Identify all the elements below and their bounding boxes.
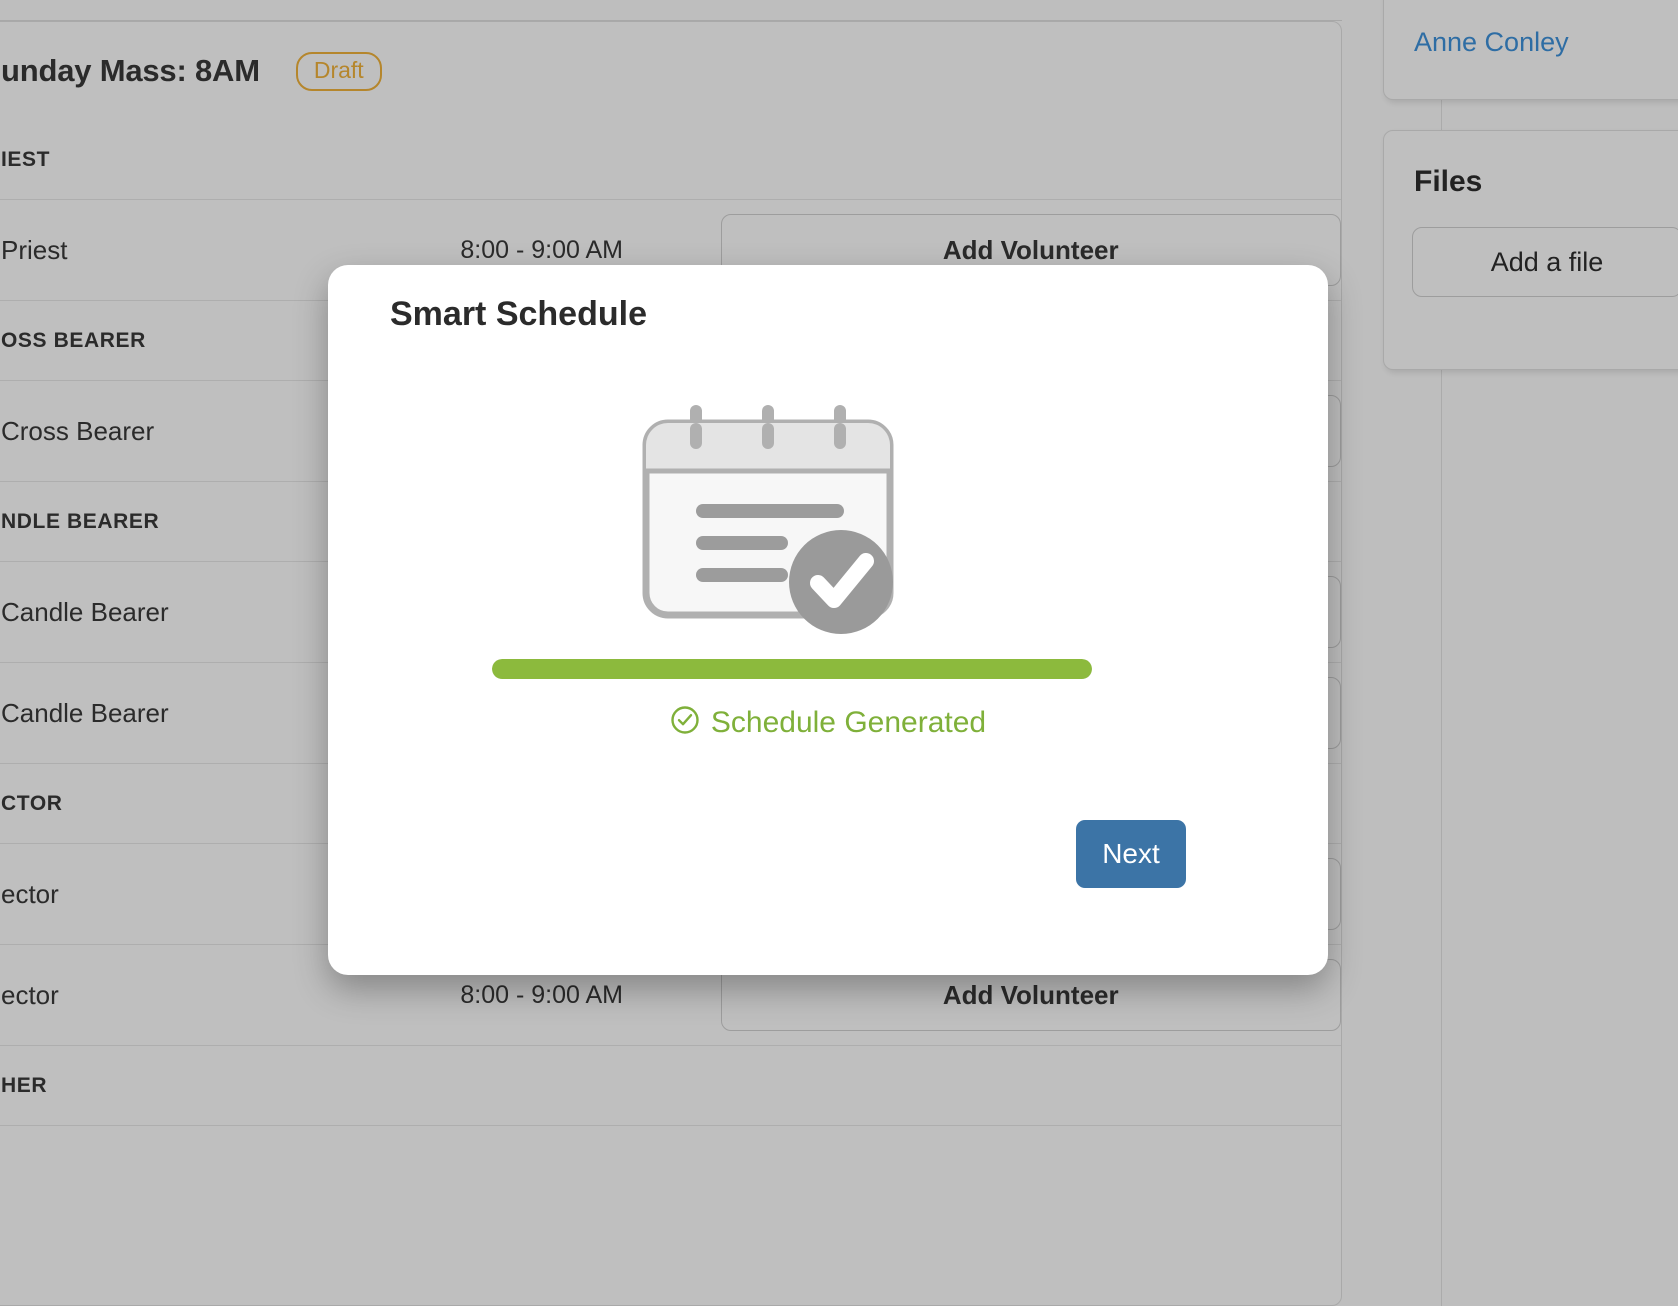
modal-title: Smart Schedule — [390, 295, 647, 334]
next-button[interactable]: Next — [1076, 820, 1186, 888]
person-name-link[interactable]: Anne Conley — [1414, 27, 1569, 58]
app-screen: unday Mass: 8AM Draft IEST Priest 8:00 -… — [0, 0, 1678, 1306]
add-a-file-button[interactable]: Add a file — [1412, 227, 1678, 297]
row-role-label: Priest — [1, 235, 409, 266]
page-title: unday Mass: 8AM — [1, 53, 260, 89]
status-badge: Draft — [296, 52, 382, 91]
row-role-label: ector — [1, 980, 409, 1011]
person-card: Anne Conley — [1383, 0, 1678, 100]
progress-bar-fill — [492, 659, 1092, 679]
calendar-check-icon — [638, 405, 918, 635]
status-message: Schedule Generated — [328, 705, 1328, 740]
status-text: Schedule Generated — [711, 706, 986, 740]
row-time-label: 8:00 - 9:00 AM — [409, 236, 675, 265]
section-header-usher: HER — [0, 1046, 1341, 1126]
progress-bar-track — [492, 659, 1092, 679]
event-header: unday Mass: 8AM Draft — [0, 22, 1341, 120]
section-header-priest: IEST — [0, 120, 1341, 200]
files-card-title: Files — [1414, 165, 1482, 199]
files-card: Files Add a file — [1383, 130, 1678, 370]
smart-schedule-modal: Smart Schedule — [328, 265, 1328, 975]
check-circle-icon — [670, 705, 700, 740]
row-time-label: 8:00 - 9:00 AM — [409, 981, 675, 1010]
